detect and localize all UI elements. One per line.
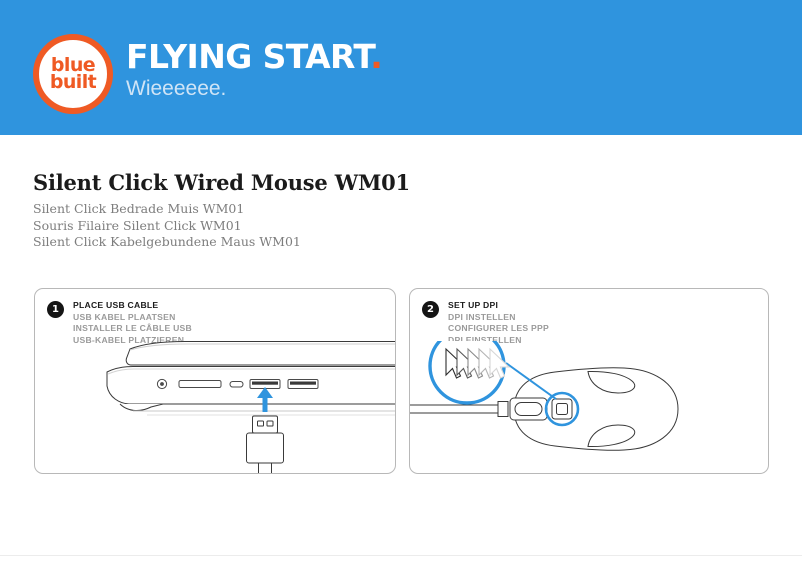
footer-divider — [0, 555, 802, 556]
product-heading-block: Silent Click Wired Mouse WM01 Silent Cli… — [33, 170, 410, 251]
step-1-labels: PLACE USB CABLE USB KABEL PLAATSEN INSTA… — [73, 300, 192, 346]
step-1-label-nl: USB KABEL PLAATSEN — [73, 312, 192, 324]
product-title-nl: Silent Click Bedrade Muis WM01 — [33, 201, 410, 218]
step-2-labels: SET UP DPI DPI INSTELLEN CONFIGURER LES … — [448, 300, 549, 346]
step-2-label-fr: CONFIGURER LES PPP — [448, 323, 549, 335]
brand-title-dot: . — [370, 37, 382, 76]
step-2-label-en: SET UP DPI — [448, 300, 549, 312]
laptop-usb-illustration — [35, 341, 395, 474]
step-2-badge: 2 — [422, 301, 439, 318]
brand-title-text: FLYING START — [126, 37, 370, 76]
product-title-fr: Souris Filaire Silent Click WM01 — [33, 218, 410, 235]
step-panel-1: 1 PLACE USB CABLE USB KABEL PLAATSEN INS… — [34, 288, 396, 474]
flying-start-page: blue built FLYING START. Wieeeeee. Silen… — [0, 0, 802, 567]
brand-block: FLYING START. Wieeeeee. — [126, 40, 382, 102]
step-1-label-en: PLACE USB CABLE — [73, 300, 192, 312]
brand-title: FLYING START. — [126, 40, 382, 74]
mouse-dpi-illustration — [410, 341, 768, 474]
step-1-header: 1 PLACE USB CABLE USB KABEL PLAATSEN INS… — [47, 300, 192, 346]
step-panel-2: 2 SET UP DPI DPI INSTELLEN CONFIGURER LE… — [409, 288, 769, 474]
brand-subtitle: Wieeeeee. — [126, 76, 382, 102]
step-2-header: 2 SET UP DPI DPI INSTELLEN CONFIGURER LE… — [422, 300, 549, 346]
product-title-de: Silent Click Kabelgebundene Maus WM01 — [33, 234, 410, 251]
step-1-label-fr: INSTALLER LE CÂBLE USB — [73, 323, 192, 335]
step-1-badge: 1 — [47, 301, 64, 318]
page-title: Silent Click Wired Mouse WM01 — [33, 170, 410, 195]
page-header: blue built FLYING START. Wieeeeee. — [0, 0, 802, 135]
bluebuilt-logo: blue built — [33, 34, 113, 114]
step-2-label-nl: DPI INSTELLEN — [448, 312, 549, 324]
logo-text-line2: built — [50, 74, 96, 91]
